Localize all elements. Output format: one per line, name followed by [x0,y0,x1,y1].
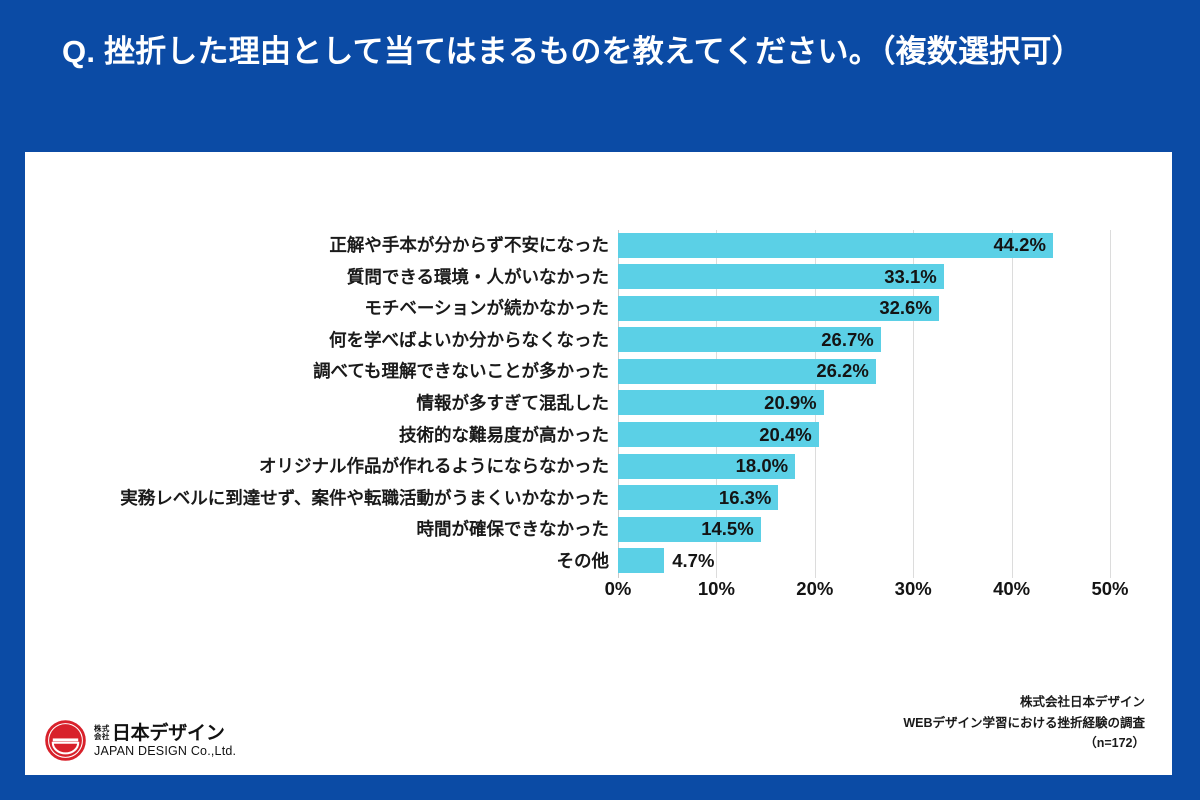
bar-row: 時間が確保できなかった14.5% [618,514,1110,546]
bar-row: 正解や手本が分からず不安になった44.2% [618,230,1110,262]
bar-chart: 正解や手本が分からず不安になった44.2%質問できる環境・人がいなかった33.1… [25,152,1172,775]
bar-row: オリジナル作品が作れるようにならなかった18.0% [618,451,1110,483]
slide-root: Q. 挫折した理由として当てはまるものを教えてください。（複数選択可） 正解や手… [0,0,1200,800]
category-label: 技術的な難易度が高かった [399,420,609,452]
bar-value-label: 26.7% [821,327,880,352]
bar-value-label: 14.5% [701,516,760,541]
category-label: 実務レベルに到達せず、案件や転職活動がうまくいかなかった [120,483,609,515]
category-label: オリジナル作品が作れるようにならなかった [259,451,609,483]
category-label: 何を学べばよいか分からなくなった [329,325,609,357]
footer-sample-size: （n=172） [903,733,1145,753]
bar-value-label: 44.2% [993,232,1052,257]
bar-value-label: 4.7% [664,548,714,573]
category-label: 正解や手本が分からず不安になった [329,230,609,262]
bar-value-label: 16.3% [719,485,778,510]
footer-company: 株式会社日本デザイン [903,692,1145,712]
logo-jp-row: 株式 会社 日本デザイン [94,724,236,743]
footer-survey: WEBデザイン学習における挫折経験の調査 [903,713,1145,733]
x-axis: 0%10%20%30%40%50% [618,578,1110,608]
chart-card: 正解や手本が分からず不安になった44.2%質問できる環境・人がいなかった33.1… [25,152,1172,775]
bar-row: 情報が多すぎて混乱した20.9% [618,388,1110,420]
bar-value-label: 26.2% [816,358,875,383]
footer-credit: 株式会社日本デザイン WEBデザイン学習における挫折経験の調査 （n=172） [903,692,1145,753]
x-tick-label-20: 20% [796,578,833,600]
plot-area: 正解や手本が分からず不安になった44.2%質問できる環境・人がいなかった33.1… [618,230,1110,578]
category-label: その他 [557,546,610,578]
logo-text-block: 株式 会社 日本デザイン JAPAN DESIGN Co.,Ltd. [94,724,236,758]
logo-english-name: JAPAN DESIGN Co.,Ltd. [94,745,236,758]
logo-japanese-name: 日本デザイン [112,724,225,743]
bar-row: その他4.7% [618,546,1110,578]
category-label: 調べても理解できないことが多かった [313,356,609,388]
bar-value-label: 20.4% [759,422,818,447]
bar-rows: 正解や手本が分からず不安になった44.2%質問できる環境・人がいなかった33.1… [618,230,1110,578]
x-tick-label-50: 50% [1091,578,1128,600]
category-label: 情報が多すぎて混乱した [417,388,610,420]
bar-row: 調べても理解できないことが多かった26.2% [618,356,1110,388]
bar-row: モチベーションが続かなかった32.6% [618,293,1110,325]
bar-value-label: 32.6% [879,295,938,320]
category-label: 時間が確保できなかった [417,514,610,546]
bar-value-label: 18.0% [736,453,795,478]
bar-value-label: 20.9% [764,390,823,415]
bar [618,548,664,573]
logo-kk-line2: 会社 [94,733,110,741]
bar-row: 質問できる環境・人がいなかった33.1% [618,262,1110,294]
x-tick-label-0: 0% [605,578,632,600]
japan-design-logo-icon [45,720,86,761]
page-title: Q. 挫折した理由として当てはまるものを教えてください。（複数選択可） [62,30,1122,74]
bar-row: 技術的な難易度が高かった20.4% [618,420,1110,452]
x-tick-label-30: 30% [895,578,932,600]
bar-row: 実務レベルに到達せず、案件や転職活動がうまくいかなかった16.3% [618,483,1110,515]
gridline-50 [1110,230,1111,578]
bar [618,233,1053,258]
x-tick-label-40: 40% [993,578,1030,600]
bar-value-label: 33.1% [884,264,943,289]
company-logo: 株式 会社 日本デザイン JAPAN DESIGN Co.,Ltd. [45,720,236,761]
x-tick-label-10: 10% [698,578,735,600]
bar-row: 何を学べばよいか分からなくなった26.7% [618,325,1110,357]
logo-kabushiki-kaisha: 株式 会社 [94,725,110,741]
category-label: モチベーションが続かなかった [364,293,609,325]
category-label: 質問できる環境・人がいなかった [347,262,609,294]
